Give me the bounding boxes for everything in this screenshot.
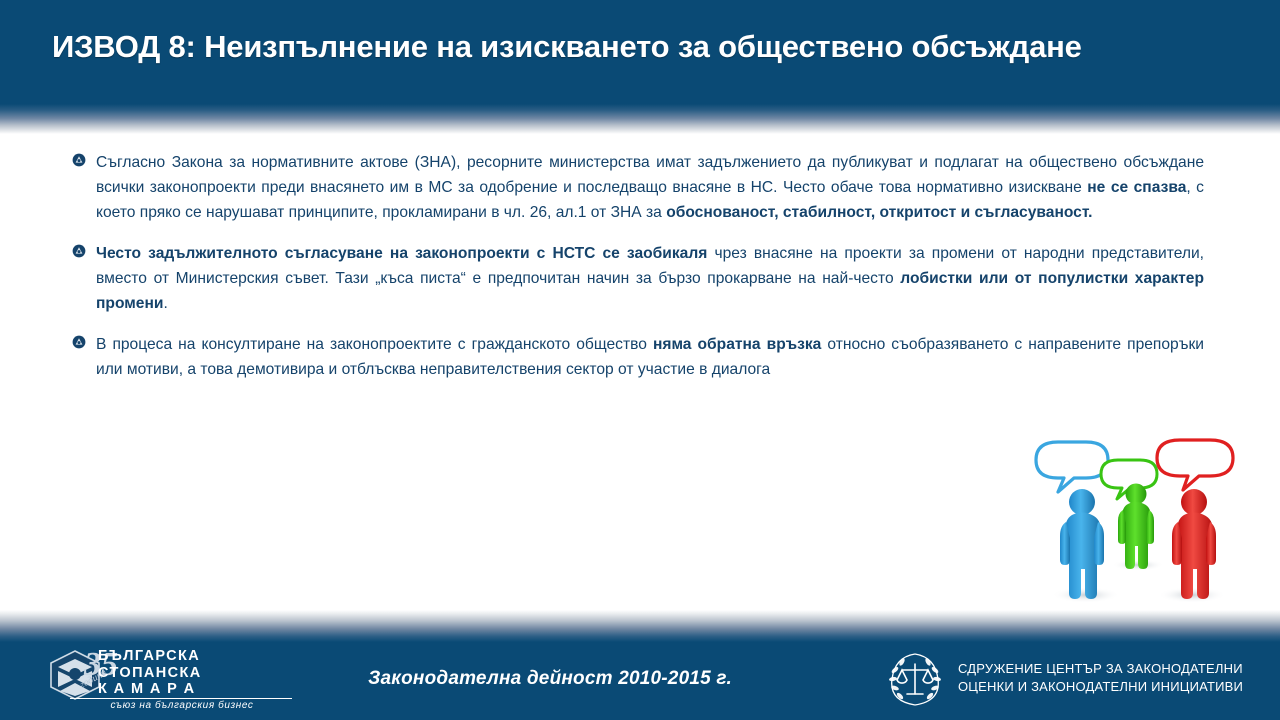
bsk-name-line-1: БЪЛГАРСКА — [98, 648, 288, 665]
figure-red — [1172, 489, 1216, 599]
bsk-hex-bullet-icon — [72, 153, 86, 167]
bullet-item-2: Често задължителното съгласуване на зако… — [0, 241, 1280, 316]
bsk-hex-bullet-icon — [72, 335, 86, 349]
footer-gradient-divider — [0, 610, 1280, 642]
czoi-name-line-1: СДРУЖЕНИЕ ЦЕНТЪР ЗА ЗАКОНОДАТЕЛНИ — [958, 660, 1264, 678]
bsk-hex-bullet-icon — [72, 244, 86, 258]
bsk-tagline: съюз на българския бизнес — [70, 700, 294, 711]
slide: ИЗВОД 8: Неизпълнение на изискването за … — [0, 0, 1280, 720]
content-area: Съгласно Закона за нормативните актове (… — [0, 150, 1280, 398]
bullet-text-2: Често задължителното съгласуване на зако… — [96, 241, 1204, 316]
czoi-name-line-2: ОЦЕНКИ И ЗАКОНОДАТЕЛНИ ИНИЦИАТИВИ — [958, 678, 1264, 696]
header-gradient-divider — [0, 104, 1280, 134]
three-people-speech-bubbles-illustration — [1014, 432, 1266, 614]
czoi-name-lines: СДРУЖЕНИЕ ЦЕНТЪР ЗА ЗАКОНОДАТЕЛНИ ОЦЕНКИ… — [958, 660, 1264, 696]
bullet-item-3: В процеса на консултиране на законопроек… — [0, 332, 1280, 382]
bullet-text-1: Съгласно Закона за нормативните актове (… — [96, 150, 1204, 225]
bullet-text-3: В процеса на консултиране на законопроек… — [96, 332, 1204, 382]
figure-green — [1118, 484, 1154, 570]
bullet-item-1: Съгласно Закона за нормативните актове (… — [0, 150, 1280, 225]
page-title: ИЗВОД 8: Неизпълнение на изискването за … — [52, 27, 1242, 67]
scales-of-justice-laurel-icon — [884, 648, 946, 710]
speech-bubble-blue — [1036, 442, 1108, 492]
bsk-divider — [70, 698, 292, 699]
figure-blue — [1060, 489, 1104, 599]
czoi-logo: СДРУЖЕНИЕ ЦЕНТЪР ЗА ЗАКОНОДАТЕЛНИ ОЦЕНКИ… — [884, 648, 1264, 712]
speech-bubble-red — [1157, 440, 1233, 490]
